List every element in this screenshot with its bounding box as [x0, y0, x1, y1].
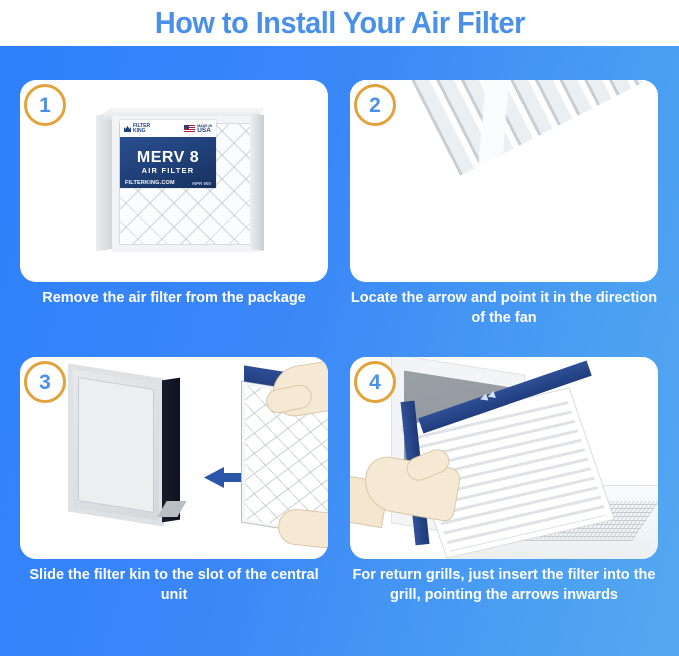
- step-number-badge-1: 1: [24, 84, 66, 126]
- direction-arrow-icon: [204, 467, 246, 487]
- slot-inner-recess: [78, 377, 154, 513]
- step-caption-4: For return grills, just insert the filte…: [350, 565, 658, 605]
- step-card-3: ▶▶ 3 Slide the filter kin to the slot of…: [20, 357, 328, 612]
- step-3-illustration: ▶▶: [20, 357, 328, 559]
- usa-text-block: MADE IN USA: [197, 124, 212, 134]
- step-1-illustration: FILTER KING MADE IN USA: [20, 80, 328, 282]
- steps-grid: FILTER KING MADE IN USA: [0, 46, 679, 656]
- brand-text: FILTER KING: [133, 124, 150, 134]
- filter-body-rotated: AIR FLOW Air Filter AIRFLOW: [350, 80, 658, 282]
- step-4-illustration: ◀◀: [350, 357, 658, 559]
- label-bottom-row: FILTERKING.COM MPR 650: [120, 180, 216, 186]
- step-number-2: 2: [369, 95, 381, 116]
- step-number-badge-2: 2: [354, 84, 396, 126]
- made-in-usa-badge: MADE IN USA: [184, 124, 212, 134]
- step-4-card-surface: ◀◀ 4: [350, 357, 658, 559]
- mpr-text: MPR 650: [192, 181, 211, 186]
- support-webbing: [362, 80, 658, 178]
- step-3-card-surface: ▶▶ 3: [20, 357, 328, 559]
- product-type-text: AIR FILTER: [142, 166, 195, 175]
- step-card-2: AIR FLOW Air Filter AIRFLOW 2 Locate the…: [350, 80, 658, 335]
- arrow-head: [204, 467, 224, 488]
- filter-product-label: FILTER KING MADE IN USA: [120, 120, 216, 188]
- step-card-1: FILTER KING MADE IN USA: [20, 80, 328, 335]
- website-text: FILTERKING.COM: [125, 180, 175, 186]
- filter-king-logo: FILTER KING: [124, 124, 150, 134]
- country-text: USA: [197, 128, 212, 134]
- slide-filter-scene: ▶▶: [20, 357, 328, 559]
- crown-icon: [124, 125, 131, 132]
- filter-corner-photo: AIR FLOW Air Filter AIRFLOW: [350, 80, 658, 282]
- step-number-badge-3: 3: [24, 361, 66, 403]
- merv-rating-text: MERV 8: [137, 150, 199, 165]
- brand-line-2: KING: [133, 129, 150, 134]
- step-number-1: 1: [39, 95, 51, 116]
- step-caption-2: Locate the arrow and point it in the dir…: [350, 288, 658, 328]
- step-caption-3: Slide the filter kin to the slot of the …: [20, 565, 328, 605]
- step-card-4: ◀◀ 4 For return grills, just insert the …: [350, 357, 658, 612]
- step-2-illustration: AIR FLOW Air Filter AIRFLOW: [350, 80, 658, 282]
- step-1-card-surface: FILTER KING MADE IN USA: [20, 80, 328, 282]
- page-title: How to Install Your Air Filter: [155, 5, 525, 41]
- step-caption-1: Remove the air filter from the package: [20, 288, 328, 308]
- label-top-row: FILTER KING MADE IN USA: [120, 120, 216, 137]
- label-main-block: MERV 8 AIR FILTER FILTERKING.COM MPR 650: [120, 137, 216, 188]
- step-number-3: 3: [39, 372, 51, 393]
- header-bar: How to Install Your Air Filter: [0, 0, 679, 46]
- central-unit-slot: [68, 371, 180, 519]
- usa-flag-icon: [184, 125, 195, 132]
- hand-lower: [276, 507, 328, 551]
- step-number-4: 4: [369, 372, 381, 393]
- merv8-filter-package: FILTER KING MADE IN USA: [96, 106, 264, 256]
- return-grill-scene: ◀◀: [350, 357, 658, 559]
- infographic-page: How to Install Your Air Filter: [0, 0, 679, 656]
- step-number-badge-4: 4: [354, 361, 396, 403]
- step-2-card-surface: AIR FLOW Air Filter AIRFLOW 2: [350, 80, 658, 282]
- filter-right-edge: [250, 113, 264, 251]
